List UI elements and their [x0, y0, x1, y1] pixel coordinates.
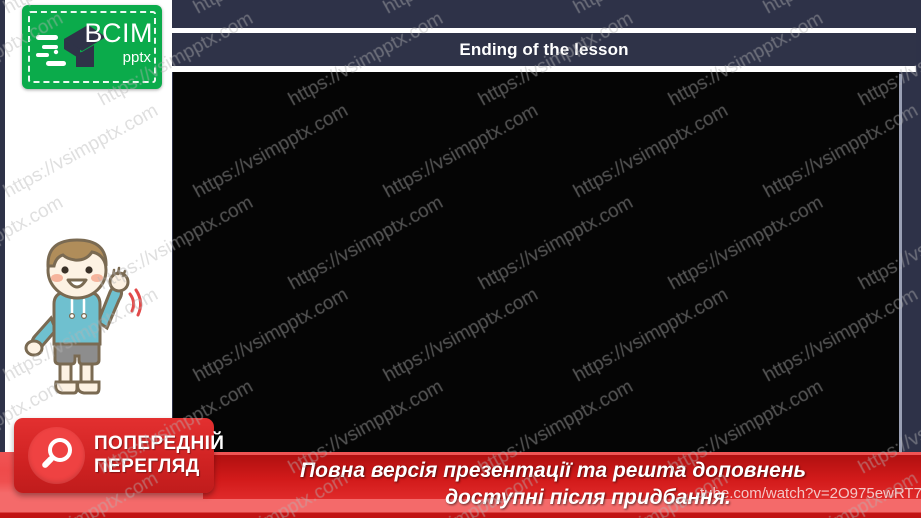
video-url-text: tube.com/watch?v=2O975ewRT7Q: [700, 485, 921, 502]
watermark-text: https://vsimpptx.com: [760, 0, 921, 19]
preview-badge-line1: ПОПЕРЕДНІЙ: [94, 432, 224, 455]
magnifier-icon: [38, 437, 76, 475]
logo-secondary-text: pptx: [84, 50, 151, 65]
watermark-text: https://vsimpptx.com: [380, 0, 542, 19]
logo-text-block: ВСІМ pptx: [84, 20, 153, 65]
preview-badge[interactable]: ПОПЕРЕДНІЙ ПЕРЕГЛЯД: [14, 418, 214, 493]
page-title: Ending of the lesson: [459, 40, 628, 60]
watermark-text: https://vsimpptx.com: [570, 0, 732, 19]
video-content-area[interactable]: [173, 72, 899, 476]
waving-boy-illustration: [18, 232, 148, 402]
preview-badge-labels: ПОПЕРЕДНІЙ ПЕРЕГЛЯД: [94, 432, 224, 478]
preview-badge-line2: ПЕРЕГЛЯД: [94, 455, 224, 478]
slide-title-bar: Ending of the lesson: [172, 33, 916, 66]
vsimpptx-logo: ВСІМ pptx: [22, 5, 162, 89]
watermark-text: https://vsimpptx.com: [190, 0, 352, 19]
presentation-slide: ВСІМ pptx: [0, 0, 921, 518]
logo-primary-text: ВСІМ: [84, 20, 153, 47]
